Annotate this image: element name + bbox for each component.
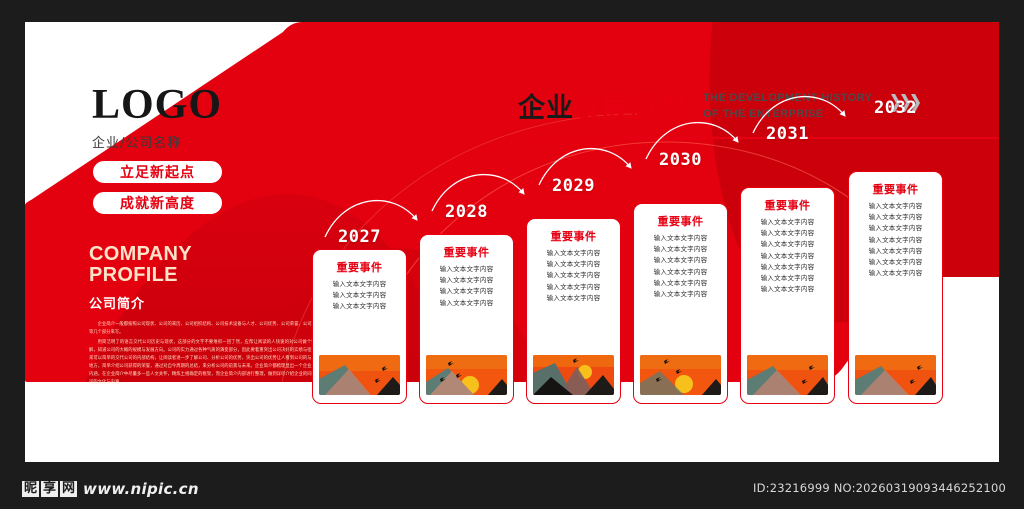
card-body-line: 输入文本文字内容 <box>654 233 708 244</box>
card-title: 重要事件 <box>551 228 597 244</box>
card-body-line: 输入文本文字内容 <box>654 267 708 278</box>
card-body-line: 输入文本文字内容 <box>761 284 815 295</box>
card-body-line: 输入文本文字内容 <box>440 264 494 275</box>
card-body-line: 输入文本文字内容 <box>547 248 601 259</box>
card-thumbnail-image <box>747 355 828 395</box>
card-body-line: 输入文本文字内容 <box>333 301 387 312</box>
timeline-card-2029[interactable]: 重要事件 输入文本文字内容输入文本文字内容输入文本文字内容输入文本文字内容输入文… <box>526 218 621 404</box>
site-url[interactable]: www.nipic.cn <box>83 480 199 498</box>
card-body-lines: 输入文本文字内容输入文本文字内容输入文本文字内容输入文本文字内容输入文本文字内容… <box>654 233 708 350</box>
card-body-line: 输入文本文字内容 <box>869 223 923 234</box>
profile-en-line1: COMPANY <box>89 244 329 265</box>
profile-en-line2: PROFILE <box>89 265 329 286</box>
card-title: 重要事件 <box>873 181 919 197</box>
card-body-line: 输入文本文字内容 <box>869 257 923 268</box>
timeline-card-2028[interactable]: 重要事件 输入文本文字内容输入文本文字内容输入文本文字内容输入文本文字内容 <box>419 234 514 404</box>
page-subtitle-line1: THE DEVELOPMENT HISTORY <box>703 91 872 107</box>
card-body-line: 输入文本文字内容 <box>440 275 494 286</box>
card-body-line: 输入文本文字内容 <box>654 278 708 289</box>
card-body-line: 输入文本文字内容 <box>761 251 815 262</box>
card-body-line: 输入文本文字内容 <box>761 217 815 228</box>
year-label-2031: 2031 <box>766 124 809 144</box>
poster-canvas: LOGO 企业/公司名称 立足新起点 成就新高度 COMPANY PROFILE… <box>25 22 999 462</box>
card-thumbnail-image <box>855 355 936 395</box>
card-body-line: 输入文本文字内容 <box>761 262 815 273</box>
card-body-lines: 输入文本文字内容输入文本文字内容输入文本文字内容 <box>333 279 387 350</box>
timeline-card-2027[interactable]: 重要事件 输入文本文字内容输入文本文字内容输入文本文字内容 <box>312 249 407 404</box>
site-logo-char-3: 网 <box>60 481 77 498</box>
year-label-2030: 2030 <box>659 150 702 170</box>
profile-paragraph-2: 用简洁明了的语言交代公司历史与现状，这部分的文字不要堆积一团了然，应帮让阅读的人… <box>89 339 329 387</box>
asset-id-text: ID:23216999 NO:20260319093446252100 <box>753 481 1006 495</box>
logo-text: LOGO <box>92 84 322 126</box>
card-body-line: 输入文本文字内容 <box>547 270 601 281</box>
card-body-line: 输入文本文字内容 <box>761 239 815 250</box>
card-thumbnail-image <box>640 355 721 395</box>
card-title: 重要事件 <box>658 213 704 229</box>
card-thumbnail-image <box>426 355 507 395</box>
card-body-line: 输入文本文字内容 <box>761 228 815 239</box>
card-body-line: 输入文本文字内容 <box>333 290 387 301</box>
page-title-red: 发展历程 <box>574 93 686 124</box>
card-body-lines: 输入文本文字内容输入文本文字内容输入文本文字内容输入文本文字内容 <box>440 264 494 350</box>
page-subtitle-line2: OF THE ENTERPRISE <box>703 107 872 123</box>
card-body-line: 输入文本文字内容 <box>761 273 815 284</box>
card-title: 重要事件 <box>444 244 490 260</box>
logo-subtitle: 企业/公司名称 <box>92 132 322 151</box>
card-body-lines: 输入文本文字内容输入文本文字内容输入文本文字内容输入文本文字内容输入文本文字内容 <box>547 248 601 350</box>
card-body-line: 输入文本文字内容 <box>547 282 601 293</box>
profile-paragraph-1: 企业简介一般都按照公司现状、公司的来历、公司组织结构、公司技术设备与人才、公司优… <box>89 321 329 337</box>
card-body-line: 输入文本文字内容 <box>869 235 923 246</box>
site-logo: 昵 享 网 www.nipic.cn <box>22 480 199 498</box>
card-body-line: 输入文本文字内容 <box>654 255 708 266</box>
card-body-line: 输入文本文字内容 <box>869 201 923 212</box>
profile-paragraphs: 企业简介一般都按照公司现状、公司的来历、公司组织结构、公司技术设备与人才、公司优… <box>89 321 329 387</box>
poster-stage: LOGO 企业/公司名称 立足新起点 成就新高度 COMPANY PROFILE… <box>0 0 1024 509</box>
year-label-2029: 2029 <box>552 176 595 196</box>
header-divider <box>518 137 999 139</box>
card-body-line: 输入文本文字内容 <box>869 246 923 257</box>
timeline-card-2030[interactable]: 重要事件 输入文本文字内容输入文本文字内容输入文本文字内容输入文本文字内容输入文… <box>633 203 728 404</box>
card-body-line: 输入文本文字内容 <box>654 244 708 255</box>
card-body-lines: 输入文本文字内容输入文本文字内容输入文本文字内容输入文本文字内容输入文本文字内容… <box>761 217 815 350</box>
year-label-2027: 2027 <box>338 227 381 247</box>
card-body-line: 输入文本文字内容 <box>333 279 387 290</box>
card-title: 重要事件 <box>765 197 811 213</box>
profile-cn-title: 公司简介 <box>89 293 329 312</box>
card-body-line: 输入文本文字内容 <box>869 212 923 223</box>
card-thumbnail-image <box>533 355 614 395</box>
year-label-2032: 2032 <box>874 98 917 118</box>
site-logo-char-2: 享 <box>41 481 58 498</box>
card-body-line: 输入文本文字内容 <box>654 289 708 300</box>
watermark-bar: 昵 享 网 www.nipic.cn ID:23216999 NO:202603… <box>0 462 1024 509</box>
card-body-line: 输入文本文字内容 <box>440 286 494 297</box>
site-logo-char-1: 昵 <box>22 481 39 498</box>
tagline-pill-2[interactable]: 成就新高度 <box>92 191 223 215</box>
page-title-black: 企业 <box>518 93 574 124</box>
timeline-card-2032[interactable]: 重要事件 输入文本文字内容输入文本文字内容输入文本文字内容输入文本文字内容输入文… <box>848 171 943 404</box>
page-title: 企业发展历程 <box>518 86 686 125</box>
card-body-line: 输入文本文字内容 <box>547 293 601 304</box>
card-title: 重要事件 <box>337 259 383 275</box>
card-body-line: 输入文本文字内容 <box>547 259 601 270</box>
card-body-line: 输入文本文字内容 <box>869 268 923 279</box>
logo-block: LOGO 企业/公司名称 立足新起点 成就新高度 <box>92 84 322 215</box>
year-label-2028: 2028 <box>445 202 488 222</box>
site-logo-chars: 昵 享 网 <box>22 481 77 498</box>
card-thumbnail-image <box>319 355 400 395</box>
company-profile-block: COMPANY PROFILE 公司简介 企业简介一般都按照公司现状、公司的来历… <box>89 244 329 389</box>
card-body-line: 输入文本文字内容 <box>440 298 494 309</box>
card-body-lines: 输入文本文字内容输入文本文字内容输入文本文字内容输入文本文字内容输入文本文字内容… <box>869 201 923 350</box>
timeline-card-2031[interactable]: 重要事件 输入文本文字内容输入文本文字内容输入文本文字内容输入文本文字内容输入文… <box>740 187 835 404</box>
page-subtitle: THE DEVELOPMENT HISTORY OF THE ENTERPRIS… <box>703 91 872 123</box>
tagline-pill-1[interactable]: 立足新起点 <box>92 160 223 184</box>
